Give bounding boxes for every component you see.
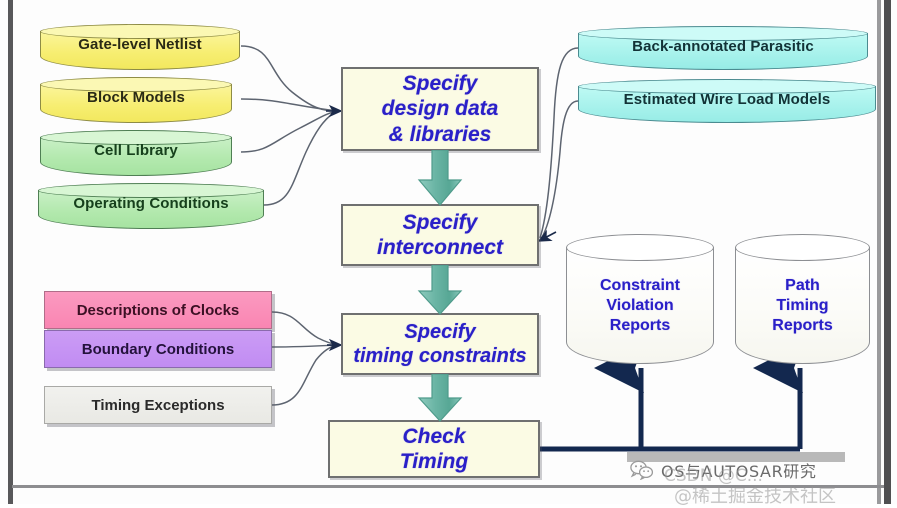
- input-cylinder-back-annotated-parasitic[interactable]: Back-annotated Parasitic: [578, 26, 868, 70]
- output-cylinder-constraint-violation-reports[interactable]: Constraint Violation Reports: [566, 234, 714, 364]
- process-check-timing[interactable]: Check Timing: [328, 420, 540, 478]
- diagram-canvas: Gate-level Netlist Block Models Cell Lib…: [0, 0, 897, 504]
- watermark-overlay-juejin: @稀土掘金技术社区: [674, 482, 836, 508]
- input-label: Operating Conditions: [38, 195, 264, 212]
- process-specify-design-data[interactable]: Specify design data & libraries: [341, 67, 539, 151]
- input-label: Cell Library: [40, 142, 232, 159]
- input-cylinder-operating-conditions[interactable]: Operating Conditions: [38, 183, 264, 229]
- output-cylinder-path-timing-reports[interactable]: Path Timing Reports: [735, 234, 870, 364]
- cylinder-top: [566, 234, 714, 261]
- output-label: Constraint Violation Reports: [566, 276, 714, 336]
- input-label: Gate-level Netlist: [40, 36, 240, 53]
- slide-left-edge: [8, 0, 13, 504]
- process-specify-timing-constraints[interactable]: Specify timing constraints: [341, 313, 539, 375]
- input-label: Estimated Wire Load Models: [578, 91, 876, 108]
- process-label: Check Timing: [330, 424, 538, 474]
- process-label: Specify timing constraints: [343, 320, 537, 368]
- slide-right-edge: [884, 0, 891, 504]
- flow-arrow-3: [414, 374, 466, 422]
- cylinder-top: [735, 234, 870, 261]
- constraint-timing-exceptions[interactable]: Timing Exceptions: [44, 386, 272, 424]
- input-label: Block Models: [40, 89, 232, 106]
- constraint-boundary-conditions[interactable]: Boundary Conditions: [44, 330, 272, 368]
- input-cylinder-estimated-wire-load-models[interactable]: Estimated Wire Load Models: [578, 79, 876, 123]
- process-label: Specify design data & libraries: [343, 71, 537, 147]
- input-cylinder-gate-level-netlist[interactable]: Gate-level Netlist: [40, 24, 240, 70]
- constraint-label: Timing Exceptions: [91, 397, 224, 414]
- process-specify-interconnect[interactable]: Specify interconnect: [341, 204, 539, 266]
- constraint-label: Descriptions of Clocks: [77, 302, 240, 319]
- output-label: Path Timing Reports: [735, 276, 870, 336]
- input-cylinder-cell-library[interactable]: Cell Library: [40, 130, 232, 176]
- process-label: Specify interconnect: [343, 210, 537, 260]
- slide-right-edge-inner: [877, 0, 881, 504]
- constraint-label: Boundary Conditions: [82, 341, 235, 358]
- constraint-descriptions-of-clocks[interactable]: Descriptions of Clocks: [44, 291, 272, 329]
- flow-arrow-1: [414, 150, 466, 206]
- input-cylinder-block-models[interactable]: Block Models: [40, 77, 232, 123]
- wechat-icon: [630, 460, 654, 480]
- input-label: Back-annotated Parasitic: [578, 38, 868, 55]
- flow-arrow-2: [414, 265, 466, 315]
